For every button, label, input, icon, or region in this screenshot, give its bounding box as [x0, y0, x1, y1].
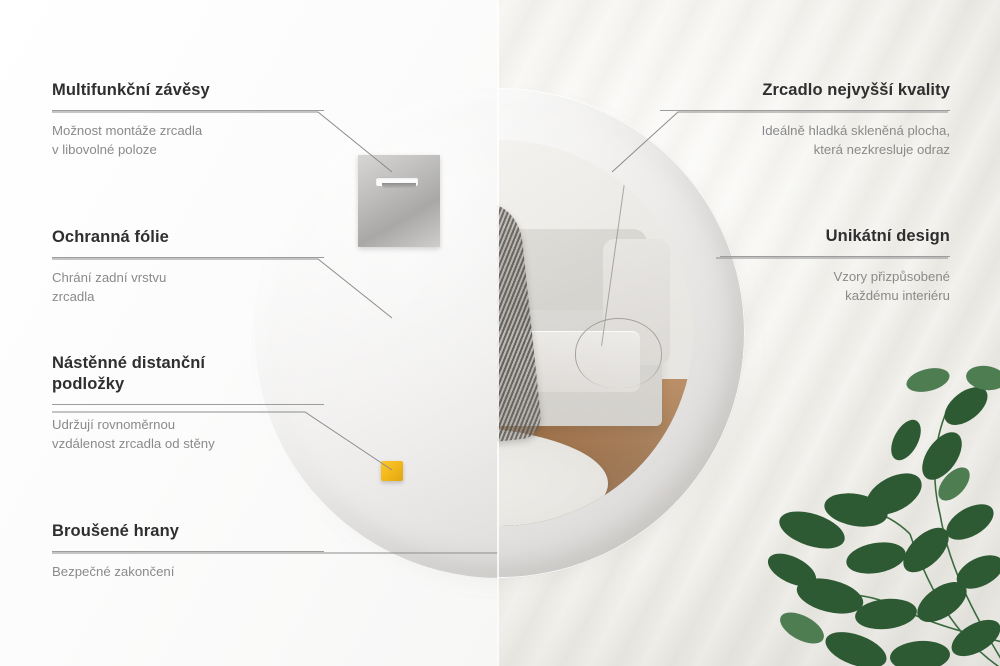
callout-rule [52, 404, 324, 405]
mounting-plate-hanger [358, 155, 440, 247]
callout-rule [52, 110, 324, 111]
callout-unikatni-design: Unikátní design Vzory přizpůsobené každé… [720, 226, 950, 306]
callout-title: Broušené hrany [52, 521, 324, 542]
callout-title: Ochranná fólie [52, 227, 324, 248]
callout-rule [720, 256, 950, 257]
callout-desc: Udržují rovnoměrnou vzdálenost zrcadla o… [52, 416, 324, 453]
plant-decoration [680, 344, 1000, 666]
product-infographic: Multifunkční závěsy Možnost montáže zrca… [0, 0, 1000, 666]
callout-rule [660, 110, 950, 111]
callout-desc: Ideálně hladká skleněná plocha, která ne… [660, 122, 950, 159]
callout-title: Multifunkční závěsy [52, 80, 324, 101]
callout-title: Nástěnné distanční podložky [52, 353, 324, 395]
wall-spacer-pad [381, 461, 403, 481]
callout-desc: Vzory přizpůsobené každému interiéru [720, 268, 950, 305]
callout-rule [52, 257, 324, 258]
callout-zrcadlo-nejvyssi-kvality: Zrcadlo nejvyšší kvality Ideálně hladká … [660, 80, 950, 160]
callout-desc: Možnost montáže zrcadla v libovolné polo… [52, 122, 324, 159]
round-mirror [255, 88, 745, 578]
callout-ochranna-folie: Ochranná fólie Chrání zadní vrstvu zrcad… [52, 227, 324, 307]
keyhole-slot-icon [376, 177, 418, 186]
panel-divider [497, 0, 499, 666]
callout-rule [52, 551, 324, 552]
callout-nastenne-distancni-podlozky: Nástěnné distanční podložky Udržují rovn… [52, 353, 324, 454]
callout-multifunkcni-zavesy: Multifunkční závěsy Možnost montáže zrca… [52, 80, 324, 160]
callout-title: Zrcadlo nejvyšší kvality [660, 80, 950, 101]
callout-desc: Bezpečné zakončení [52, 563, 324, 582]
callout-brousene-hrany: Broušené hrany Bezpečné zakončení [52, 521, 324, 582]
callout-desc: Chrání zadní vrstvu zrcadla [52, 269, 324, 306]
callout-title: Unikátní design [720, 226, 950, 247]
